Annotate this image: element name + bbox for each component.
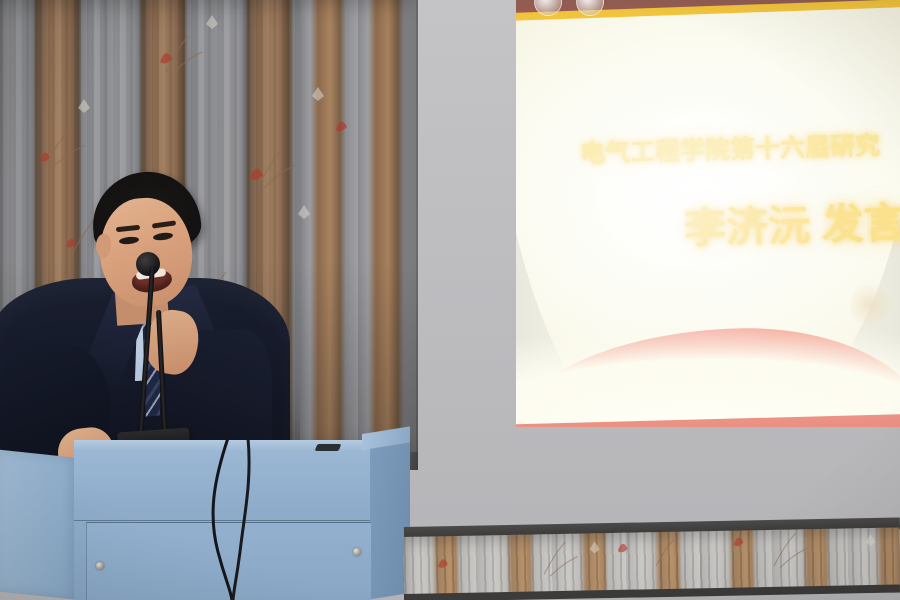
slide-subtitle-line: 李济沅 发言 <box>683 189 900 256</box>
projection-screen: 电气工程学院第十六届研究 李济沅 发言 <box>516 0 900 427</box>
microphone-cables <box>0 436 420 600</box>
slide-text-block: 电气工程学院第十六届研究 李济沅 发言 <box>516 0 900 427</box>
stage-curtain-sliver <box>300 0 418 452</box>
photo-scene: 电气工程学院第十六届研究 李济沅 发言 <box>0 0 900 600</box>
microphone-icon <box>136 252 160 276</box>
speaker-ear <box>96 234 111 258</box>
slide-title-line: 电气工程学院第十六届研究 <box>580 126 881 170</box>
